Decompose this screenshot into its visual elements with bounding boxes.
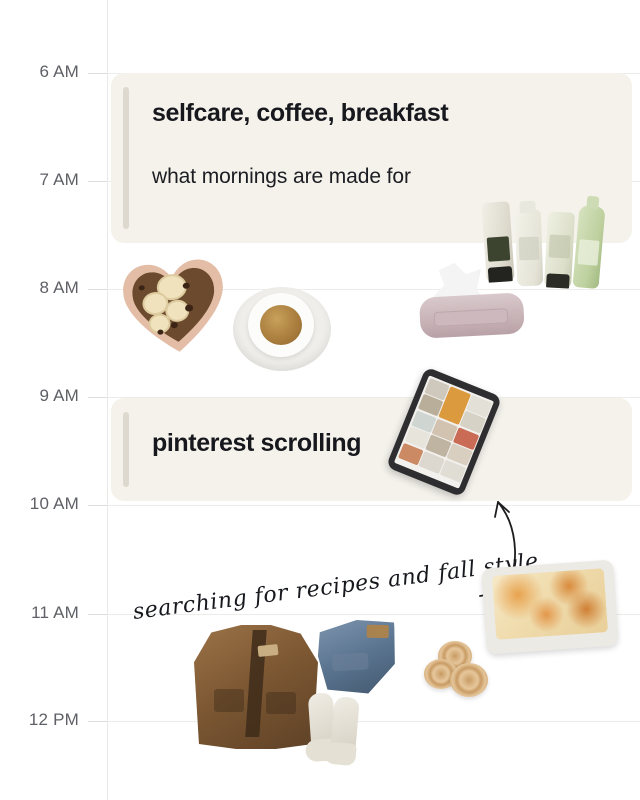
- calendar-day-view: 6 AM7 AM8 AM9 AM10 AM11 AM12 PM selfcare…: [0, 0, 640, 800]
- hour-row: 10 AM: [0, 505, 640, 506]
- skincare-bottle-green: [572, 205, 605, 289]
- bottle-label: [519, 237, 540, 260]
- jeans-leather-patch: [366, 625, 388, 638]
- lasagna-dish-sticker: [484, 564, 616, 650]
- tube-label: [487, 236, 510, 261]
- hour-label: 8 AM: [39, 278, 79, 298]
- event-accent-bar: [123, 412, 129, 487]
- event-block-pinterest[interactable]: pinterest scrolling: [111, 398, 632, 501]
- heart-bowl-oatmeal-sticker: [120, 257, 229, 359]
- skincare-tube-green: [544, 211, 575, 288]
- event-subtitle: what mornings are made for: [152, 165, 411, 189]
- event-accent-bar: [123, 87, 129, 229]
- jacket-pocket: [266, 692, 296, 714]
- wipes-pack-sticker: [417, 259, 527, 338]
- hour-label: 7 AM: [39, 170, 79, 190]
- hour-label: 11 AM: [31, 603, 79, 623]
- cinnamon-roll: [450, 663, 488, 697]
- tube-cap: [546, 273, 570, 288]
- event-title: selfcare, coffee, breakfast: [152, 99, 448, 128]
- sock-foot: [323, 741, 357, 766]
- hour-tick: [88, 505, 107, 506]
- hour-gridline: [107, 505, 640, 506]
- jacket-pocket: [214, 689, 244, 711]
- coffee-liquid: [260, 305, 302, 345]
- coffee-cup-sticker: [233, 281, 331, 373]
- tube-label: [549, 234, 571, 258]
- hour-label: 9 AM: [39, 386, 79, 406]
- hour-gridline: [107, 721, 640, 722]
- blue-jeans-sticker: [316, 618, 398, 696]
- hour-tick: [88, 614, 107, 615]
- sock: [329, 696, 360, 766]
- hour-tick: [88, 73, 107, 74]
- time-gutter-divider: [107, 0, 108, 800]
- jacket-tag: [258, 644, 279, 657]
- hour-label: 10 AM: [30, 494, 79, 514]
- hour-tick: [88, 181, 107, 182]
- bottle-label: [578, 240, 600, 266]
- event-title: pinterest scrolling: [152, 429, 361, 458]
- hour-tick: [88, 397, 107, 398]
- hour-tick: [88, 289, 107, 290]
- knit-socks-sticker: [308, 693, 366, 765]
- hour-tick: [88, 721, 107, 722]
- lasagna-food: [492, 568, 608, 640]
- brown-jacket-sticker: [194, 625, 318, 749]
- bottle-cap: [519, 201, 535, 214]
- hour-label: 6 AM: [39, 62, 79, 82]
- jeans-pocket: [332, 652, 369, 672]
- bottle-cap: [586, 196, 599, 210]
- hour-label: 12 PM: [29, 710, 79, 730]
- cinnamon-rolls-sticker: [424, 641, 498, 701]
